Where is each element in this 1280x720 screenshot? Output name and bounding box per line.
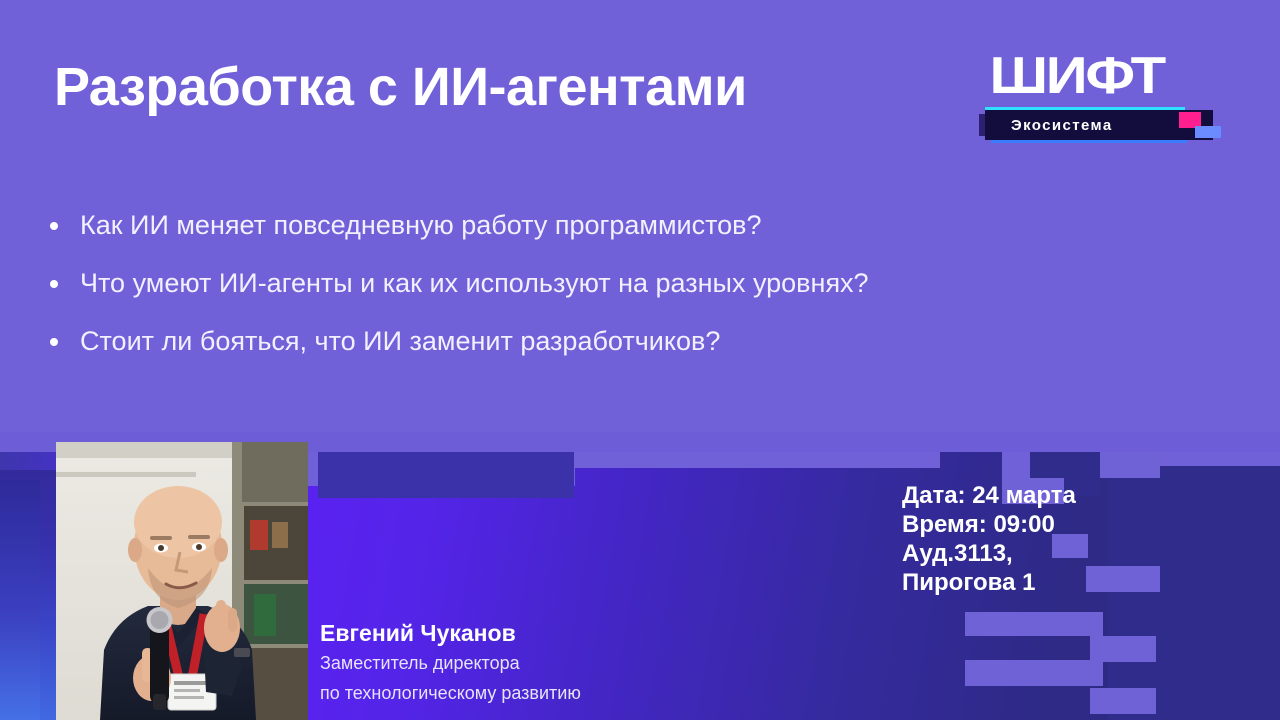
logo-wordmark: ШИФТ: [985, 48, 1248, 104]
bg-block-light-7: [1090, 688, 1156, 714]
presentation-slide: Разработка с ИИ-агентами ШИФТ Экосистема…: [0, 0, 1280, 720]
bullet-dot-icon: [50, 338, 58, 346]
bg-step-4: [575, 452, 940, 468]
bullet-list: Как ИИ меняет повседневную работу програ…: [50, 206, 1110, 380]
speaker-role-line-2: по технологическому развитию: [320, 678, 581, 708]
bg-step-8: [1160, 452, 1280, 466]
logo-tagline-label: Экосистема: [985, 117, 1113, 134]
bullet-text: Стоит ли бояться, что ИИ заменит разрабо…: [80, 322, 720, 360]
event-room: Ауд.3113,: [902, 539, 1076, 568]
bg-block-light-3: [1086, 566, 1160, 592]
bg-block-light-4: [965, 612, 1103, 636]
event-date: Дата: 24 марта: [902, 481, 1076, 510]
bg-block-light-5: [1090, 636, 1156, 662]
brand-logo: ШИФТ Экосистема: [985, 48, 1220, 140]
speaker-role-line-1: Заместитель директора: [320, 648, 581, 678]
event-time: Время: 09:00: [902, 510, 1076, 539]
logo-bar-left-edge: [979, 114, 985, 136]
bullet-item: Как ИИ меняет повседневную работу програ…: [50, 206, 1110, 244]
bullet-text: Что умеют ИИ-агенты и как их используют …: [80, 264, 869, 302]
bg-block-dark-3: [1108, 478, 1170, 720]
bullet-dot-icon: [50, 280, 58, 288]
speaker-info: Евгений Чуканов Заместитель директора по…: [320, 618, 581, 708]
bg-block-mid-2: [318, 452, 574, 498]
event-address: Пирогова 1: [902, 568, 1076, 597]
speaker-name: Евгений Чуканов: [320, 618, 581, 648]
logo-tagline-bar: Экосистема: [985, 110, 1213, 140]
bg-block-dark-2: [1160, 466, 1280, 720]
bg-left-gradient-strip-inner: [0, 480, 40, 720]
logo-blue-accent: [1195, 126, 1221, 138]
bg-block-light-2: [1100, 452, 1160, 478]
bg-block-light-6: [965, 660, 1103, 686]
logo-bar-blue-bottom-line: [991, 140, 1187, 143]
page-title: Разработка с ИИ-агентами: [54, 56, 747, 118]
bullet-item: Стоит ли бояться, что ИИ заменит разрабо…: [50, 322, 1110, 360]
logo-bar-cyan-top-line: [985, 107, 1185, 110]
bullet-dot-icon: [50, 222, 58, 230]
speaker-photo: [56, 442, 308, 720]
bullet-text: Как ИИ меняет повседневную работу програ…: [80, 206, 762, 244]
bullet-item: Что умеют ИИ-агенты и как их используют …: [50, 264, 1110, 302]
event-details: Дата: 24 марта Время: 09:00 Ауд.3113, Пи…: [902, 481, 1076, 597]
